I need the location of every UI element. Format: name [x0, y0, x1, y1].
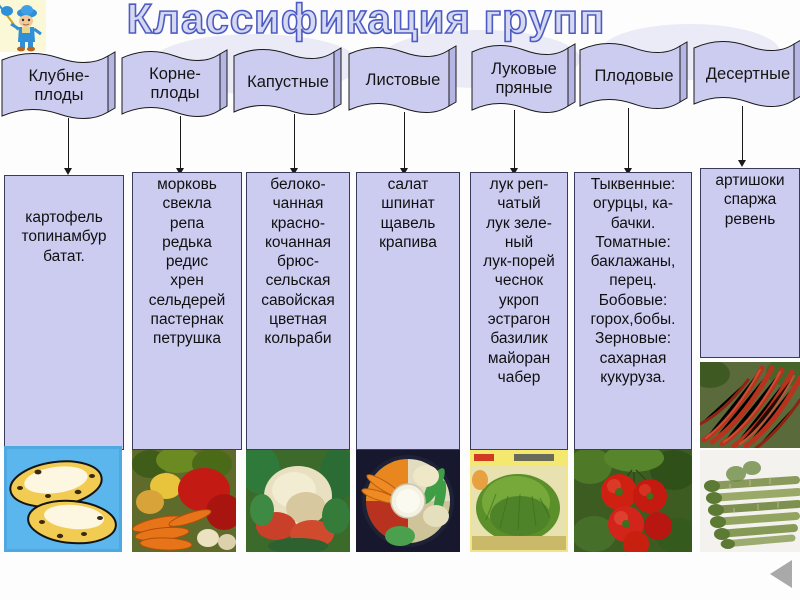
dill-seed-packet-photo — [470, 450, 568, 552]
nav-previous-triangle-icon[interactable] — [770, 560, 792, 588]
connector-arrow-7 — [742, 106, 743, 164]
banner-label: Луковые пряные — [470, 40, 578, 118]
cabbage-salad-photo — [246, 450, 350, 552]
page-title: Классификация групп — [96, 0, 636, 42]
connector-arrow-1 — [68, 118, 69, 172]
connector-arrow-2 — [180, 116, 181, 172]
connector-arrow-6 — [628, 108, 629, 172]
banner-onion-spices[interactable]: Луковые пряные — [470, 40, 578, 118]
asparagus-photo — [700, 450, 800, 552]
banner-label: Листовые — [347, 42, 459, 118]
banner-label: Капустные — [232, 44, 344, 120]
list-box-cabbages: белоко- чанная красно- кочанная брюс- се… — [246, 172, 350, 450]
slide-canvas: Классификация групп Клубне- плоды Корне-… — [0, 0, 800, 600]
list-box-tubers: картофель топинамбур батат. — [4, 175, 124, 450]
banner-label: Клубне- плоды — [0, 48, 118, 124]
banner-cabbages[interactable]: Капустные — [232, 44, 344, 120]
banner-fruiting[interactable]: Плодовые — [578, 38, 690, 114]
list-box-roots: морковь свекла репа редька редис хрен се… — [132, 172, 242, 450]
banner-label: Десертные — [692, 36, 800, 112]
connector-arrow-4 — [404, 112, 405, 172]
banner-label: Плодовые — [578, 38, 690, 114]
list-box-fruiting: Тыквенные: огурцы, ка- бачки. Томатные: … — [574, 172, 692, 450]
tomatoes-photo — [574, 450, 692, 552]
potato-illustration-photo — [4, 446, 122, 552]
list-box-onion-spices: лук реп- чатый лук зеле- ный лук-порей ч… — [470, 172, 568, 450]
banner-tubers[interactable]: Клубне- плоды — [0, 48, 118, 124]
rhubarb-photo — [700, 362, 800, 448]
banner-dessert[interactable]: Десертные — [692, 36, 800, 112]
banner-label: Корне- плоды — [120, 46, 230, 122]
list-box-leafy: салат шпинат щавель крапива — [356, 172, 460, 450]
cartoon-gardener-icon — [0, 0, 46, 52]
connector-arrow-5 — [514, 110, 515, 172]
banner-leafy[interactable]: Листовые — [347, 42, 459, 118]
vegetable-platter-photo — [356, 450, 460, 552]
carrots-and-peppers-photo — [132, 450, 236, 552]
connector-arrowhead-7 — [738, 160, 746, 167]
banner-roots[interactable]: Корне- плоды — [120, 46, 230, 122]
list-box-dessert: артишоки спаржа ревень — [700, 168, 800, 358]
connector-arrow-3 — [294, 114, 295, 172]
connector-arrowhead-1 — [64, 168, 72, 175]
